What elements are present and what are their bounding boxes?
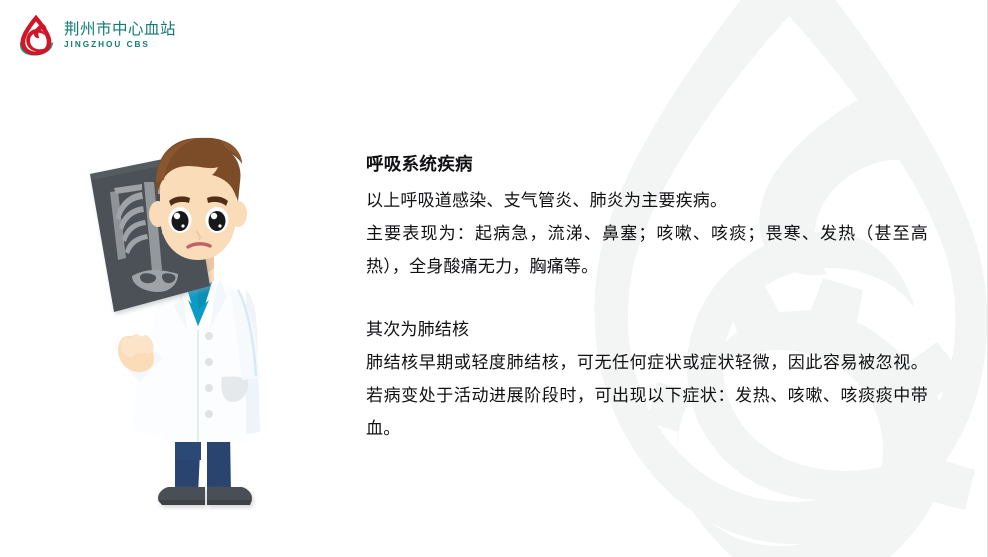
coat-button <box>205 384 213 392</box>
content-title: 呼吸系统疾病 <box>366 152 928 179</box>
coat-button <box>205 332 213 340</box>
slide-canvas: 荆州市中心血站 JINGZHOU CBS <box>0 0 988 557</box>
content-paragraph-1-line-2: 主要表现为：起病急，流涕、鼻塞；咳嗽、咳痰；畏寒、发热（甚至高热），全身酸痛无力… <box>366 218 928 284</box>
brand-lockup: 荆州市中心血站 JINGZHOU CBS <box>17 14 176 56</box>
coat-button <box>205 358 213 366</box>
content-paragraph-2: 肺结核早期或轻度肺结核，可无任何症状或症状轻微，因此容易被忽视。若病变处于活动进… <box>366 347 928 446</box>
blood-drop-logo-icon <box>17 14 55 56</box>
coat-button <box>205 410 213 418</box>
content-subheading: 其次为肺结核 <box>366 314 928 347</box>
paragraph-spacer <box>366 284 928 314</box>
content-text-block: 呼吸系统疾病 以上呼吸道感染、支气管炎、肺炎为主要疾病。 主要表现为：起病急，流… <box>366 152 928 446</box>
content-paragraph-1-line-1: 以上呼吸道感染、支气管炎、肺炎为主要疾病。 <box>366 185 928 218</box>
brand-text-block: 荆州市中心血站 JINGZHOU CBS <box>64 20 176 50</box>
eye-right <box>206 207 229 233</box>
doctor-holding-xray-illustration <box>70 130 320 510</box>
brand-name-en: JINGZHOU CBS <box>64 40 176 50</box>
eye-left <box>169 207 192 233</box>
brand-name-cn: 荆州市中心血站 <box>64 21 176 38</box>
doctor-shoes <box>158 487 252 505</box>
